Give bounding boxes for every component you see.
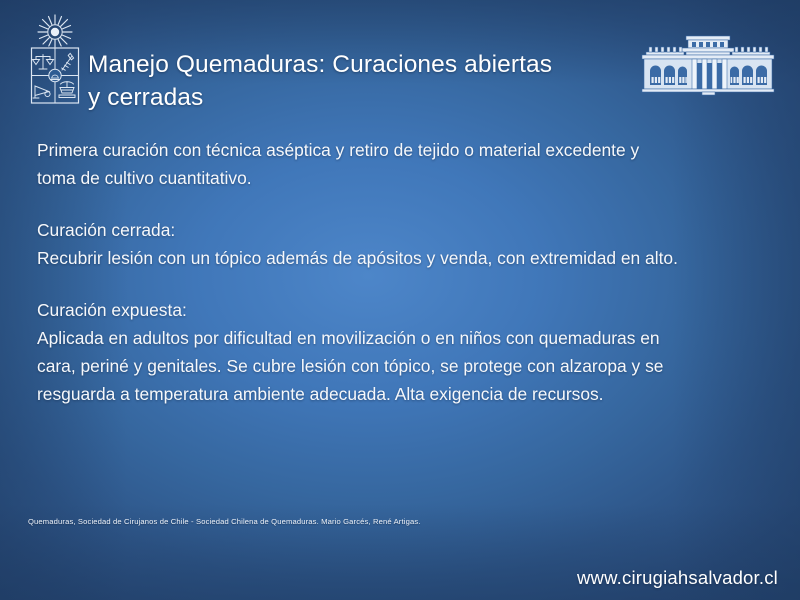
body-heading-curacion-cerrada: Curación cerrada:: [37, 216, 769, 244]
source-citation: Quemaduras, Sociedad de Cirujanos de Chi…: [28, 516, 728, 527]
body-heading-curacion-expuesta: Curación expuesta:: [37, 296, 769, 324]
paragraph-primera-curacion: Primera curación con técnica aséptica y …: [37, 136, 769, 192]
paragraph-curacion-cerrada: Curación cerrada: Recubrir lesión con un…: [37, 216, 769, 272]
body-line: Recubrir lesión con un tópico además de …: [37, 244, 769, 272]
slide-title: Manejo Quemaduras: Curaciones abiertas y…: [88, 48, 608, 114]
neoclassical-building-icon: [634, 30, 782, 102]
slide-body: Primera curación con técnica aséptica y …: [37, 136, 769, 408]
website-url[interactable]: www.cirugiahsalvador.cl: [577, 566, 778, 590]
body-line: cara, periné y genitales. Se cubre lesió…: [37, 352, 769, 380]
body-line: toma de cultivo cuantitativo.: [37, 164, 769, 192]
body-line: Primera curación con técnica aséptica y …: [37, 136, 769, 164]
slide-title-line-1: Manejo Quemaduras: Curaciones abiertas: [88, 51, 552, 78]
slide-canvas: Manejo Quemaduras: Curaciones abiertas y…: [0, 0, 800, 600]
slide-header: Manejo Quemaduras: Curaciones abiertas y…: [0, 0, 800, 122]
universidad-de-chile-crest-icon: [24, 12, 86, 112]
paragraph-curacion-expuesta: Curación expuesta: Aplicada en adultos p…: [37, 296, 769, 408]
body-line: resguarda a temperatura ambiente adecuad…: [37, 380, 769, 408]
slide-title-line-2: y cerradas: [88, 81, 608, 114]
body-line: Aplicada en adultos por dificultad en mo…: [37, 324, 769, 352]
